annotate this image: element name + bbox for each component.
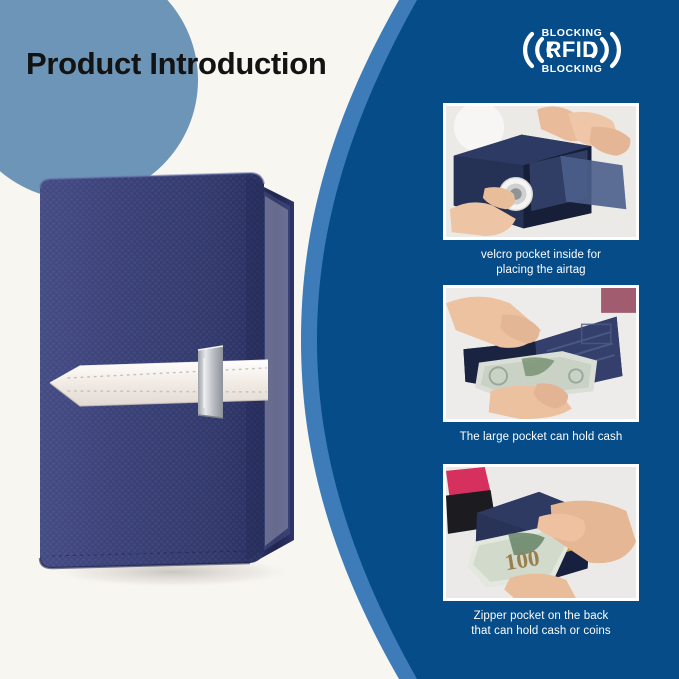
feature-card: velcro pocket inside for placing the air… — [443, 103, 639, 278]
caption-line: velcro pocket inside for — [443, 248, 639, 263]
svg-text:100: 100 — [503, 544, 542, 575]
zipper-pocket-photo: 100 — [443, 464, 639, 601]
rfid-blocking-badge: BLOCKING RFID BLOCKING — [494, 22, 650, 78]
feature-card: The large pocket can hold cash — [443, 285, 639, 445]
caption-line: placing the airtag — [443, 263, 639, 278]
product-introduction-page: Product Introduction BLOCKING RFID BLOCK… — [0, 0, 679, 679]
rfid-bottom-text: BLOCKING — [542, 63, 603, 75]
feature-caption: The large pocket can hold cash — [443, 430, 639, 445]
feature-card: 100 Zipper pocket on the back that can h… — [443, 464, 639, 639]
feature-caption: Zipper pocket on the back that can hold … — [443, 609, 639, 639]
product-photo — [22, 168, 322, 590]
rfid-main-text: RFID — [546, 37, 599, 62]
caption-line: that can hold cash or coins — [443, 624, 639, 639]
caption-line: The large pocket can hold cash — [443, 430, 639, 445]
caption-line: Zipper pocket on the back — [443, 609, 639, 624]
feature-caption: velcro pocket inside for placing the air… — [443, 248, 639, 278]
cash-pocket-photo — [443, 285, 639, 422]
velcro-airtag-photo — [443, 103, 639, 240]
page-title: Product Introduction — [26, 46, 327, 82]
